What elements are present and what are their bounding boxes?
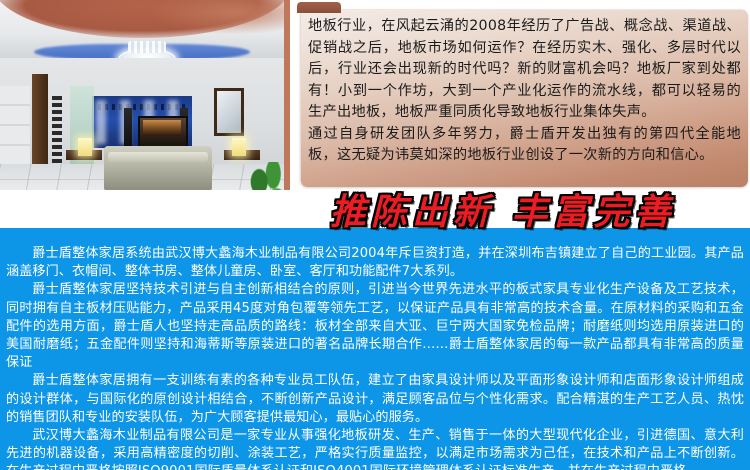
photo-door-frame: [32, 74, 48, 178]
promo-page: 地板行业，在风起云涌的2008年经历了广告战、概念战、渠道战、促销战之后，地板市…: [0, 0, 750, 470]
body-paragraph: 爵士盾整体家居系统由武汉博大蠡海木业制品有限公司2004年斥巨资打造，并在深圳布…: [6, 245, 744, 281]
company-description-section: 爵士盾整体家居系统由武汉博大蠡海木业制品有限公司2004年斥巨资打造，并在深圳布…: [0, 238, 750, 470]
headline-banner: 推陈出新 丰富完善: [0, 190, 750, 238]
intro-paragraph: 地板行业，在风起云涌的2008年经历了广告战、概念战、渠道战、促销战之后，地板市…: [308, 16, 741, 167]
photo-overlay-smudge-secondary: [150, 0, 284, 34]
panel-tab-nub: [297, 2, 341, 13]
photo-table-lamp-left: [78, 138, 92, 156]
body-paragraph: 爵士盾整体家居坚持技术引进与自主创新相结合的原则，引进当今世界先进水平的板式家具…: [6, 281, 744, 372]
body-paragraph: 武汉博大蠡海木业制品有限公司是一家专业从事强化地板研发、生产、销售于一体的大型现…: [6, 427, 744, 470]
photo-table-lamp-right: [232, 138, 246, 156]
body-paragraph: 爵士盾整体家居拥有一支训练有素的各种专业员工队伍，建立了由家具设计师以及平面形象…: [6, 372, 744, 427]
photo-speaker-left: [124, 108, 132, 146]
headline-banner-title: 推陈出新 丰富完善: [330, 190, 750, 238]
photo-framed-art: [214, 88, 244, 136]
photo-television: [138, 116, 188, 150]
intro-text-panel: 地板行业，在风起云涌的2008年经历了广告战、概念战、渠道战、促销战之后，地板市…: [300, 9, 748, 187]
photo-sofa: [104, 146, 212, 190]
